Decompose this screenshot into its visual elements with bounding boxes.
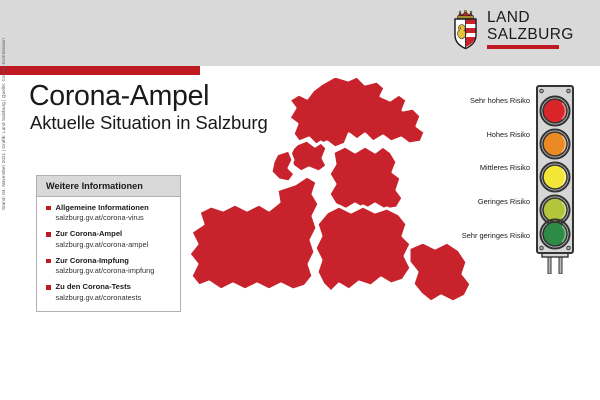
accent-red-bar xyxy=(0,66,200,75)
info-link-label: Zu den Corona-Tests xyxy=(56,283,131,291)
info-link-label: Allgemeine Informationen xyxy=(56,204,149,212)
info-link-label: Zur Corona-Ampel xyxy=(56,230,123,238)
square-bullet-icon xyxy=(46,206,51,211)
traffic-light-icon xyxy=(533,84,577,274)
info-link-url[interactable]: salzburg.gv.at/coronatests xyxy=(56,294,173,302)
salzburg-districts-map[interactable] xyxy=(185,72,485,377)
square-bullet-icon xyxy=(46,232,51,237)
info-link-title: Allgemeine Informationen xyxy=(46,204,172,212)
traffic-light-lamp-very-low xyxy=(541,220,570,249)
salzburg-coat-of-arms-icon xyxy=(452,10,479,50)
traffic-light-lamp-high xyxy=(541,130,570,159)
info-link-url[interactable]: salzburg.gv.at/corona-ampel xyxy=(56,241,173,249)
info-link-label: Zur Corona-Impfung xyxy=(56,257,129,265)
info-link-title: Zur Corona-Impfung xyxy=(46,257,172,265)
logo-line-land: LAND xyxy=(487,10,574,26)
risk-legend: Sehr hohes Risiko Hohes Risiko Mittleres… xyxy=(446,84,536,252)
square-bullet-icon xyxy=(46,259,51,264)
traffic-light-lamp-medium xyxy=(541,163,570,192)
legend-label-very-high: Sehr hohes Risiko xyxy=(446,84,536,118)
info-box: Weitere Informationen Allgemeine Informa… xyxy=(36,175,181,312)
square-bullet-icon xyxy=(46,285,51,290)
legend-label-low: Geringes Risiko xyxy=(446,185,536,219)
info-link-ampel[interactable]: Zur Corona-Ampel salzburg.gv.at/corona-a… xyxy=(46,230,172,248)
traffic-light-lamp-very-high xyxy=(541,97,570,126)
logo-line-salzburg: SALZBURG xyxy=(487,27,574,43)
info-link-url[interactable]: salzburg.gv.at/corona-impfung xyxy=(56,267,173,275)
info-link-title: Zur Corona-Ampel xyxy=(46,230,172,238)
credit-text: Stand: 04. November 2021 | Grafik: Land … xyxy=(1,30,6,210)
legend-label-high: Hohes Risiko xyxy=(446,118,536,152)
info-link-impfung[interactable]: Zur Corona-Impfung salzburg.gv.at/corona… xyxy=(46,257,172,275)
legend-label-medium: Mittleres Risiko xyxy=(446,151,536,185)
info-box-body: Allgemeine Informationen salzburg.gv.at/… xyxy=(37,197,180,311)
info-link-title: Zu den Corona-Tests xyxy=(46,283,172,291)
info-link-allgemeine[interactable]: Allgemeine Informationen salzburg.gv.at/… xyxy=(46,204,172,222)
infographic-canvas: LAND SALZBURG Corona-Ampel Aktuelle Situ… xyxy=(0,0,600,400)
info-box-heading: Weitere Informationen xyxy=(37,176,180,197)
info-link-tests[interactable]: Zu den Corona-Tests salzburg.gv.at/coron… xyxy=(46,283,172,301)
land-salzburg-logo: LAND SALZBURG xyxy=(452,10,582,56)
page-title: Corona-Ampel xyxy=(29,80,209,113)
legend-label-very-low: Sehr geringes Risiko xyxy=(446,218,536,252)
logo-underline xyxy=(487,45,559,49)
info-link-url[interactable]: salzburg.gv.at/corona-virus xyxy=(56,214,173,222)
